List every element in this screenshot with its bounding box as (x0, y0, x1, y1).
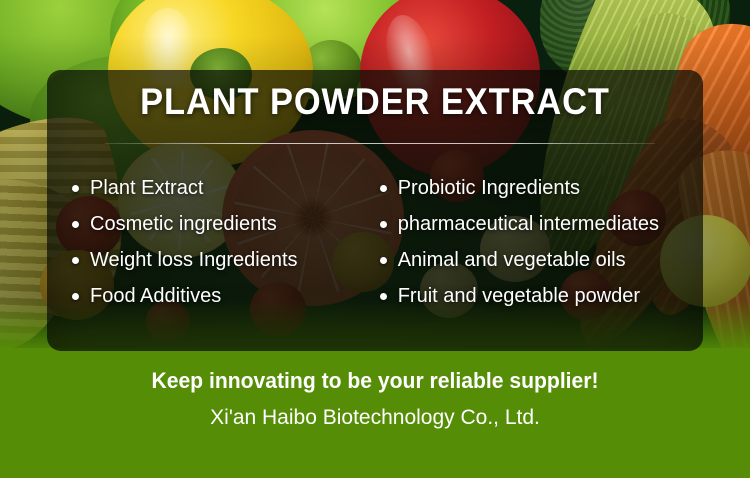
company-name: Xi'an Haibo Biotechnology Co., Ltd. (0, 406, 750, 430)
list-item: Food Additives (72, 278, 376, 314)
bullet-dot-icon (72, 293, 79, 300)
list-item-label: Probiotic Ingredients (398, 177, 580, 200)
tagline: Keep innovating to be your reliable supp… (15, 368, 735, 394)
list-item-label: pharmaceutical intermediates (398, 213, 659, 236)
title-divider (105, 143, 655, 144)
feature-list-left: Plant Extract Cosmetic ingredients Weigh… (47, 170, 376, 320)
list-item-label: Animal and vegetable oils (398, 249, 626, 272)
list-item: Weight loss Ingredients (72, 242, 376, 278)
bullet-dot-icon (72, 257, 79, 264)
list-item: Plant Extract (72, 170, 376, 206)
bullet-dot-icon (72, 221, 79, 228)
bullet-dot-icon (380, 185, 387, 192)
list-item-label: Plant Extract (90, 177, 203, 200)
feature-lists: Plant Extract Cosmetic ingredients Weigh… (47, 170, 703, 320)
page-title: PLANT POWDER EXTRACT (26, 80, 724, 124)
list-item-label: Cosmetic ingredients (90, 213, 277, 236)
product-banner: PLANT POWDER EXTRACT Plant Extract Cosme… (0, 0, 750, 478)
list-item-label: Food Additives (90, 285, 221, 308)
list-item: pharmaceutical intermediates (380, 206, 703, 242)
bullet-dot-icon (380, 293, 387, 300)
list-item-label: Fruit and vegetable powder (398, 285, 640, 308)
bullet-dot-icon (380, 257, 387, 264)
list-item: Fruit and vegetable powder (380, 278, 703, 314)
list-item: Cosmetic ingredients (72, 206, 376, 242)
list-item: Probiotic Ingredients (380, 170, 703, 206)
bullet-dot-icon (72, 185, 79, 192)
list-item: Animal and vegetable oils (380, 242, 703, 278)
feature-list-right: Probiotic Ingredients pharmaceutical int… (376, 170, 703, 320)
list-item-label: Weight loss Ingredients (90, 249, 298, 272)
bullet-dot-icon (380, 221, 387, 228)
